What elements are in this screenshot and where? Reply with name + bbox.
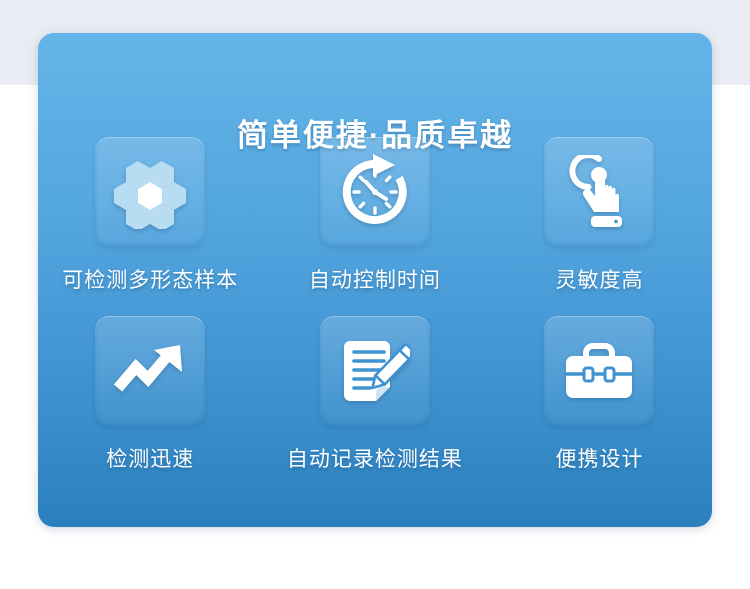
feature-label: 便携设计 [555, 443, 643, 473]
feature-item-fast-detection[interactable]: 检测迅速 [38, 316, 263, 473]
document-pencil-icon[interactable] [320, 316, 430, 426]
feature-label: 自动记录检测结果 [287, 443, 463, 473]
feature-item-auto-time[interactable]: 自动控制时间 [263, 137, 488, 294]
trend-arrow-up-icon[interactable] [95, 316, 205, 426]
clock-arrow-icon[interactable] [320, 137, 430, 247]
feature-item-sensitivity[interactable]: 灵敏度高 [487, 137, 712, 294]
feature-label: 检测迅速 [106, 443, 194, 473]
hand-touch-icon[interactable] [544, 137, 654, 247]
feature-label: 自动控制时间 [309, 264, 441, 294]
feature-row: 可检测多形态样本 [38, 137, 712, 294]
feature-item-sample-types[interactable]: 可检测多形态样本 [38, 137, 263, 294]
feature-row: 检测迅速 [38, 316, 712, 473]
briefcase-icon[interactable] [544, 316, 654, 426]
feature-panel: 简单便捷·品质卓越 [38, 33, 712, 527]
feature-grid: 可检测多形态样本 [38, 137, 712, 473]
feature-label: 灵敏度高 [555, 264, 643, 294]
feature-item-portable[interactable]: 便携设计 [487, 316, 712, 473]
feature-label: 可检测多形态样本 [62, 264, 238, 294]
feature-item-auto-record[interactable]: 自动记录检测结果 [263, 316, 488, 473]
honeycomb-hexagons-icon[interactable] [95, 137, 205, 247]
